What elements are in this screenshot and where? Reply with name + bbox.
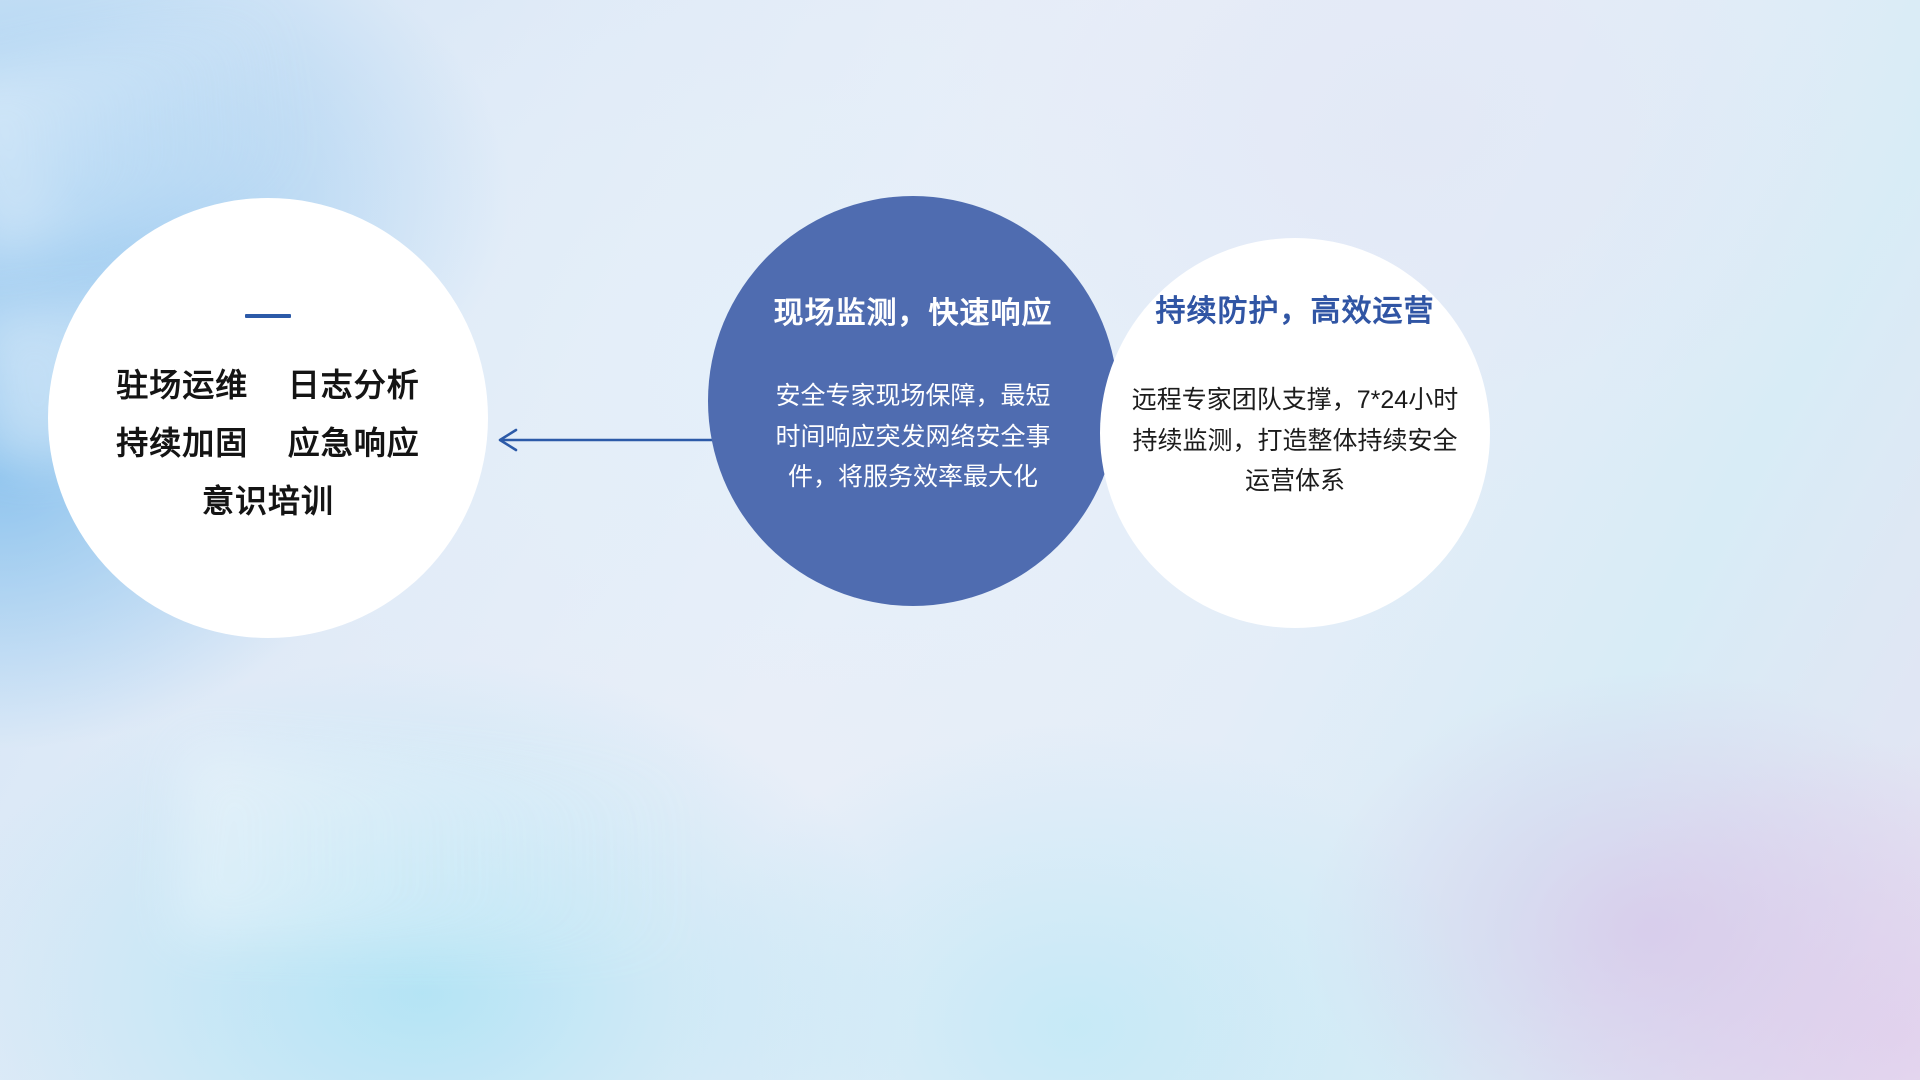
right-circle-title: 持续防护，高效运营 [1156,286,1435,330]
list-item: 意识培训 [116,472,420,530]
list-item: 持续加固 应急响应 [116,414,420,472]
middle-circle-title: 现场监测，快速响应 [774,288,1053,332]
slide-canvas: 驻场运维 日志分析 持续加固 应急响应 意识培训 现场监测，快速响应 安全专家现… [0,0,1920,1080]
background-sheen-bottom [175,747,704,964]
left-capability-circle[interactable]: 驻场运维 日志分析 持续加固 应急响应 意识培训 [48,198,488,638]
right-remote-circle[interactable]: 持续防护，高效运营 远程专家团队支撑，7*24小时持续监测，打造整体持续安全运营… [1100,238,1490,628]
flow-arrow-left [488,420,718,460]
right-circle-body: 远程专家团队支撑，7*24小时持续监测，打造整体持续安全运营体系 [1125,380,1465,502]
list-item: 驻场运维 日志分析 [116,356,420,414]
middle-onsite-circle[interactable]: 现场监测，快速响应 安全专家现场保障，最短时间响应突发网络安全事件，将服务效率最… [708,196,1118,606]
accent-dash-icon [245,314,291,318]
left-capability-list: 驻场运维 日志分析 持续加固 应急响应 意识培训 [116,356,420,531]
middle-circle-body: 安全专家现场保障，最短时间响应突发网络安全事件，将服务效率最大化 [767,376,1059,498]
